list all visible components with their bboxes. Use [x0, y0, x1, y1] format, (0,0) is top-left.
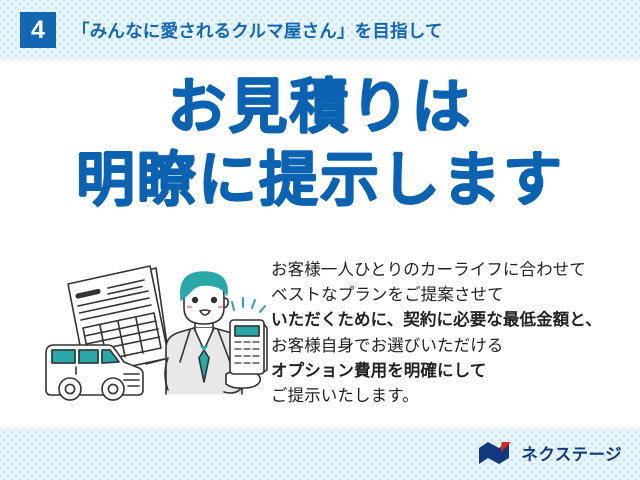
body-copy-line: ベストなプランをご提案させて [271, 283, 631, 308]
headline: お見積りは 明瞭に提示します [0, 76, 640, 211]
body-copy-line: お客様自身でお選びいただける [271, 334, 631, 359]
body-copy-line: いただくために、契約に必要な最低金額と、 [271, 308, 631, 333]
sparkle-icon [232, 298, 265, 312]
header-band: 4 「みんなに愛されるクルマ屋さん」を目指して [0, 0, 640, 60]
illustration-salesman-quote-van [38, 262, 268, 422]
body-copy-line: オプション費用を明確にして [271, 359, 631, 384]
section-number-badge: 4 [20, 12, 56, 48]
nextage-n-mark-icon [478, 441, 512, 465]
header-title: 「みんなに愛されるクルマ屋さん」を目指して [72, 18, 443, 43]
calculator-icon [230, 320, 267, 374]
body-copy-line: ご提示いたします。 [271, 384, 631, 409]
body-copy: お客様一人ひとりのカーライフに合わせて ベストなプランをご提案させて いただくた… [271, 258, 631, 409]
body-copy-line: お客様一人ひとりのカーライフに合わせて [271, 258, 631, 283]
headline-line-2: 明瞭に提示します [0, 149, 640, 212]
nextage-logo-text: ネクステージ [521, 441, 622, 465]
footer-band: ネクステージ [0, 428, 640, 480]
advertisement-page: 4 「みんなに愛されるクルマ屋さん」を目指して お見積りは 明瞭に提示します お… [0, 0, 640, 480]
headline-line-1: お見積りは [0, 76, 640, 139]
nextage-logo: ネクステージ [478, 439, 622, 467]
